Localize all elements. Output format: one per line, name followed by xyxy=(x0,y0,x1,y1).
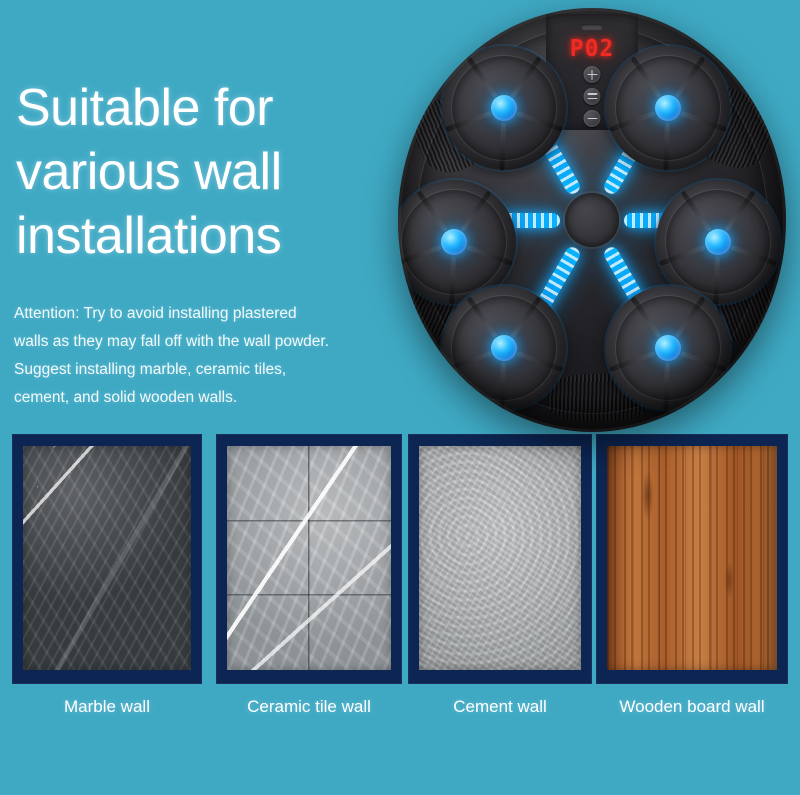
led-display-value: P02 xyxy=(570,36,615,62)
wooden-board-texture-image xyxy=(607,446,777,670)
attention-note: Attention: Try to avoid installing plast… xyxy=(14,300,414,412)
center-hub xyxy=(565,193,619,247)
pad-led-icon xyxy=(441,229,467,255)
caption-marble-wall: Marble wall xyxy=(12,692,202,722)
product-image-boxing-machine: P02 xyxy=(398,4,788,434)
caption-ceramic-tile-wall: Ceramic tile wall xyxy=(216,692,402,722)
marble-texture-image xyxy=(23,446,191,670)
mode-button[interactable] xyxy=(584,88,601,105)
sensor-slot-icon xyxy=(581,24,603,30)
cement-texture-image xyxy=(419,446,581,670)
target-pad[interactable] xyxy=(606,286,730,410)
ceramic-tile-texture-image xyxy=(227,446,391,670)
wall-panel-cement[interactable] xyxy=(408,434,592,684)
wall-panel-ceramic-tile[interactable] xyxy=(216,434,402,684)
device-body: P02 xyxy=(398,8,786,432)
promo-banner: Suitable for various wall installations … xyxy=(0,0,800,795)
minus-button[interactable] xyxy=(584,110,601,127)
pad-led-icon xyxy=(655,95,681,121)
control-button-group xyxy=(584,66,601,127)
pad-led-icon xyxy=(491,335,517,361)
target-pad[interactable] xyxy=(442,46,566,170)
pad-led-icon xyxy=(705,229,731,255)
wall-panel-wooden-board[interactable] xyxy=(596,434,788,684)
target-pad[interactable] xyxy=(606,46,730,170)
pad-led-icon xyxy=(655,335,681,361)
wall-material-gallery xyxy=(0,434,800,684)
pad-led-icon xyxy=(491,95,517,121)
target-pad[interactable] xyxy=(442,286,566,410)
wall-panel-marble[interactable] xyxy=(12,434,202,684)
caption-cement-wall: Cement wall xyxy=(408,692,592,722)
plus-button[interactable] xyxy=(584,66,601,83)
caption-wooden-board-wall: Wooden board wall xyxy=(596,692,788,722)
page-title: Suitable for various wall installations xyxy=(16,76,416,268)
